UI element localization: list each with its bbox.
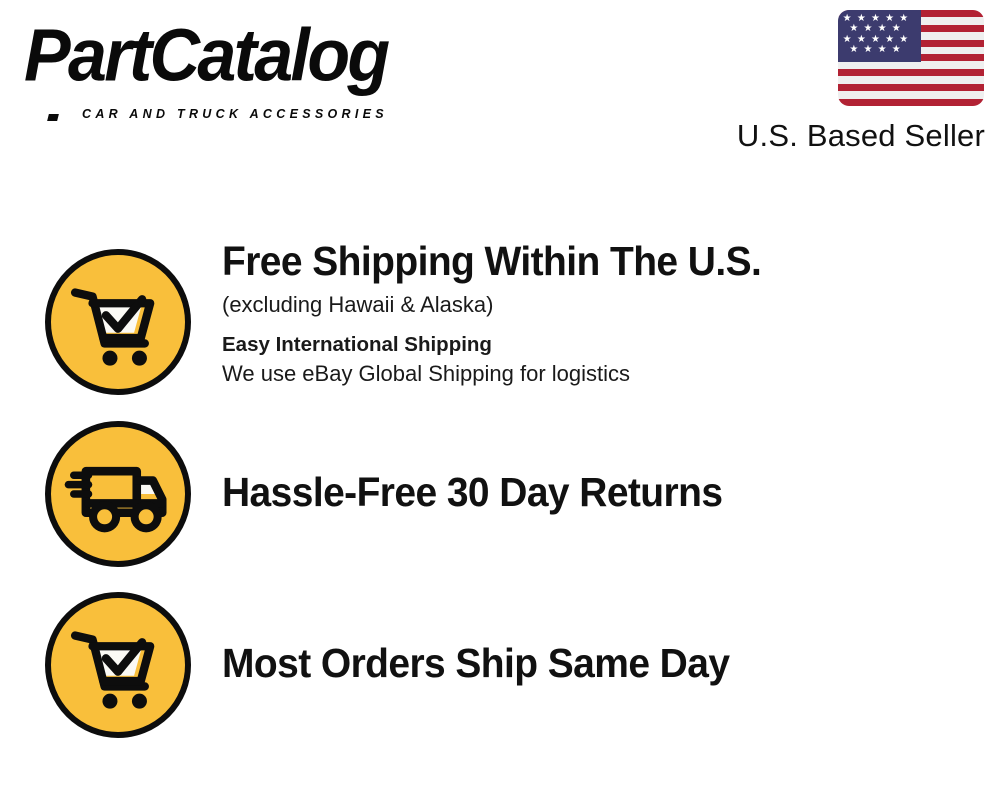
delivery-truck-icon: [45, 421, 191, 567]
feature-subline-exclusions: (excluding Hawaii & Alaska): [222, 291, 990, 319]
brand-tagline: CAR AND TRUCK ACCESSORIES: [82, 107, 388, 121]
brand-logo[interactable]: PartCatalog CAR AND TRUCK ACCESSORIES: [24, 18, 494, 113]
feature-heading: Hassle-Free 30 Day Returns: [222, 471, 952, 514]
seller-location-label: U.S. Based Seller: [727, 118, 985, 154]
feature-heading: Most Orders Ship Same Day: [222, 642, 952, 685]
feature-subline-international-title: Easy International Shipping: [222, 332, 990, 358]
flag-canton: ★ ★ ★ ★ ★ ★ ★ ★ ★ ★ ★ ★ ★ ★ ★ ★ ★ ★: [838, 10, 921, 62]
shopping-cart-check-icon: [45, 592, 191, 738]
shopping-cart-check-icon: [45, 249, 191, 395]
feature-text-block: Hassle-Free 30 Day Returns: [222, 471, 990, 514]
feature-heading: Free Shipping Within The U.S.: [222, 240, 952, 283]
flag-stripe: [838, 84, 984, 91]
feature-text-block: Most Orders Ship Same Day: [222, 642, 990, 685]
brand-wordmark: PartCatalog: [24, 18, 387, 92]
feature-subline-international-detail: We use eBay Global Shipping for logistic…: [222, 360, 990, 388]
us-flag-icon: ★ ★ ★ ★ ★ ★ ★ ★ ★ ★ ★ ★ ★ ★ ★ ★ ★ ★: [838, 10, 984, 106]
flag-stripe: [838, 99, 984, 106]
feature-text-block: Free Shipping Within The U.S. (excluding…: [222, 240, 990, 387]
logo-accent-mark: [47, 114, 59, 121]
flag-stripe: [838, 69, 984, 76]
